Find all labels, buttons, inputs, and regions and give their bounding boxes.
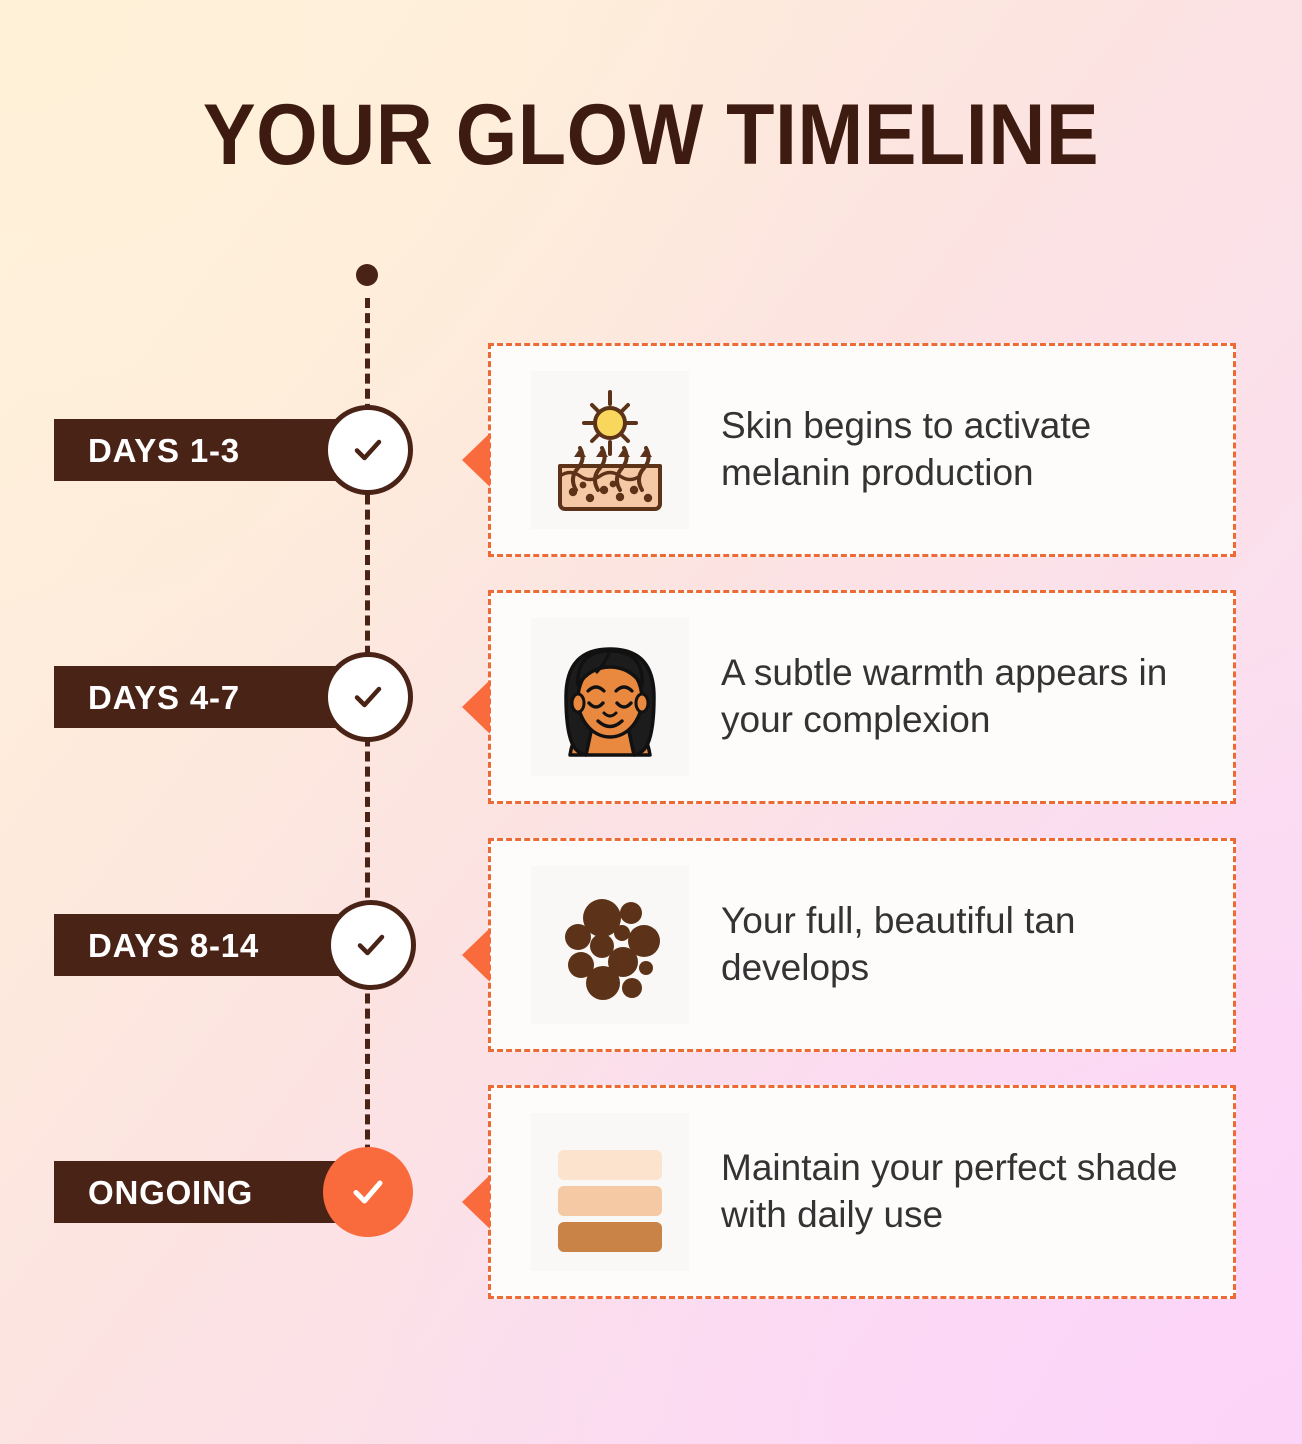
check-icon [349, 923, 393, 967]
infographic-canvas: YOUR GLOW TIMELINE DAYS 1-3 [0, 0, 1302, 1444]
melanin-dots-icon [531, 866, 689, 1024]
check-icon [346, 428, 390, 472]
step-description: A subtle warmth appears in your complexi… [721, 650, 1191, 743]
timeline-step: DAYS 8-14 [0, 838, 1302, 1052]
step-check-circle[interactable] [323, 652, 413, 742]
step-label-pill: DAYS 4-7 [54, 666, 344, 728]
step-pointer-triangle [462, 928, 490, 982]
smiling-woman-icon [531, 618, 689, 776]
step-label-text: DAYS 4-7 [88, 681, 240, 714]
step-description: Maintain your perfect shade with daily u… [721, 1145, 1191, 1238]
step-label-pill: DAYS 8-14 [54, 914, 357, 976]
step-description: Your full, beautiful tan develops [721, 898, 1191, 991]
step-label-pill: DAYS 1-3 [54, 419, 344, 481]
step-card: Skin begins to activate melanin producti… [488, 343, 1236, 557]
step-pointer-triangle [462, 433, 490, 487]
step-pointer-triangle [462, 1175, 490, 1229]
step-check-circle[interactable] [323, 1147, 413, 1237]
step-pointer-triangle [462, 680, 490, 734]
step-label-text: ONGOING [88, 1176, 253, 1209]
timeline-step: DAYS 1-3 [0, 343, 1302, 557]
step-label-text: DAYS 8-14 [88, 929, 259, 962]
step-description: Skin begins to activate melanin producti… [721, 403, 1191, 496]
step-label-text: DAYS 1-3 [88, 434, 240, 467]
timeline-step: DAYS 4-7 [0, 590, 1302, 804]
check-icon [346, 675, 390, 719]
step-card: Your full, beautiful tan develops [488, 838, 1236, 1052]
step-label-pill: ONGOING [54, 1161, 346, 1223]
check-icon [345, 1169, 391, 1215]
step-check-circle[interactable] [326, 900, 416, 990]
sun-over-skin-icon [531, 371, 689, 529]
page-title: YOUR GLOW TIMELINE [52, 92, 1250, 178]
timeline-start-dot [356, 264, 378, 286]
step-check-circle[interactable] [323, 405, 413, 495]
skin-shade-bars-icon [531, 1113, 689, 1271]
step-card: Maintain your perfect shade with daily u… [488, 1085, 1236, 1299]
step-card: A subtle warmth appears in your complexi… [488, 590, 1236, 804]
timeline-step: ONGOING Maintain your perfect shade with… [0, 1085, 1302, 1299]
